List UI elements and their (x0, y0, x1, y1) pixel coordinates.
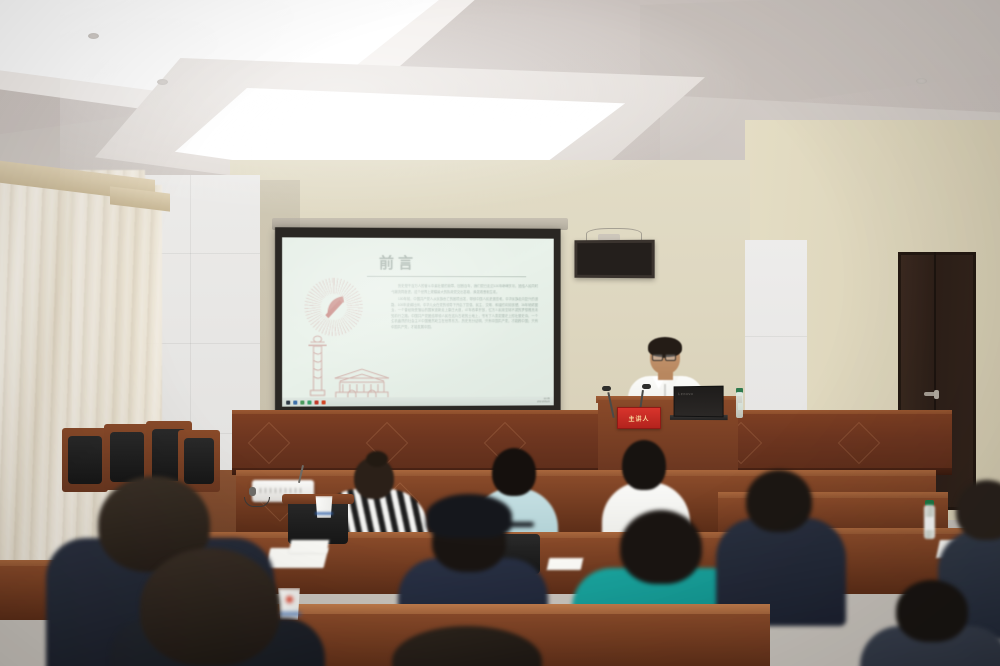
browser-icon[interactable] (300, 400, 304, 404)
name-placard-text: 主讲人 (628, 414, 649, 423)
microphone-icon (602, 386, 611, 391)
eyeglasses-icon (665, 354, 676, 361)
ccp-hammer-sickle-emblem (304, 278, 362, 336)
name-placard: 主讲人 (617, 407, 661, 429)
baseball-cap-icon (426, 494, 512, 538)
windows-taskbar[interactable]: 14:35 2021/06/22 (282, 396, 554, 406)
projection-screen: 前言 历史是千百万人的奋斗中最壮丽的篇章。回首百年，我们党已走过100年峥嵘岁月… (275, 227, 561, 417)
downlight-icon (157, 79, 168, 85)
huabiao-column-icon (306, 334, 328, 396)
wall-mounted-display (574, 240, 654, 279)
attendee-navy-suit (716, 470, 846, 620)
clock-date: 2021/06/22 (537, 400, 550, 403)
desk-diamond-inlay (248, 422, 290, 464)
slide-title: 前言 (379, 252, 417, 273)
attendee-back-right-head (896, 580, 968, 642)
hammer-sickle-icon (321, 293, 349, 321)
projected-slide: 前言 历史是千百万人的奋斗中最壮丽的篇章。回首百年，我们党已走过100年峥嵘岁月… (282, 237, 554, 406)
laptop-brand-label: Lenovo (678, 391, 693, 396)
attendee-back-right (860, 580, 1000, 666)
eyeglasses-bridge (662, 357, 666, 358)
microphone-icon (642, 384, 651, 389)
conference-room-photo: 前言 历史是千百万人的奋斗中最壮丽的篇章。回首百年，我们党已走过100年峥嵘岁月… (0, 0, 1000, 666)
attendee-navy-head (746, 470, 812, 532)
explorer-icon[interactable] (293, 400, 297, 404)
desk-diamond-inlay (838, 422, 880, 464)
attendee-far-right-head (956, 480, 1000, 540)
slide-title-underline (367, 276, 526, 277)
downlight-icon (916, 78, 927, 84)
attendee-front-center-head (140, 548, 280, 666)
attendee-teal-head (620, 510, 702, 584)
water-bottle[interactable] (736, 392, 743, 418)
attendee-bottom-edge (392, 626, 542, 666)
slide-content: 前言 历史是千百万人的奋斗中最壮丽的篇章。回首百年，我们党已走过100年峥嵘岁月… (282, 237, 554, 406)
water-bottle-right[interactable] (924, 505, 935, 539)
cup-band (315, 512, 333, 515)
attendee-front-center (110, 548, 325, 666)
media-icon[interactable] (315, 400, 319, 404)
tiananmen-gate-icon (331, 366, 393, 400)
empty-chair-back (110, 432, 144, 482)
downlight-icon (88, 33, 99, 39)
slide-body-text: 历史是千百万人的奋斗中最壮丽的篇章。回首百年，我们党已走过100年峥嵘岁月，团结… (391, 284, 538, 332)
attendee-polo-head (492, 448, 536, 496)
start-icon[interactable] (286, 400, 290, 404)
attendee-white-shirt-head (622, 440, 666, 490)
attendee-bottom-edge-head (392, 626, 542, 666)
slide-paragraph: 100年前，中国共产党人从民族危亡的困境出发，带领中国人民进退苦难，中华民族走向… (391, 297, 538, 330)
slide-paragraph: 历史是千百万人的奋斗中最壮丽的篇章。回首百年，我们党已走过100年峥嵘岁月，团结… (391, 284, 538, 295)
door-lock-icon[interactable] (934, 390, 939, 399)
taskbar-clock[interactable]: 14:35 2021/06/22 (537, 398, 550, 404)
laptop[interactable]: Lenovo (674, 386, 724, 418)
cap-brim-icon (494, 522, 534, 527)
attendee-hair-bun (366, 451, 388, 467)
powerpoint-icon[interactable] (322, 400, 326, 404)
mail-icon[interactable] (307, 400, 311, 404)
